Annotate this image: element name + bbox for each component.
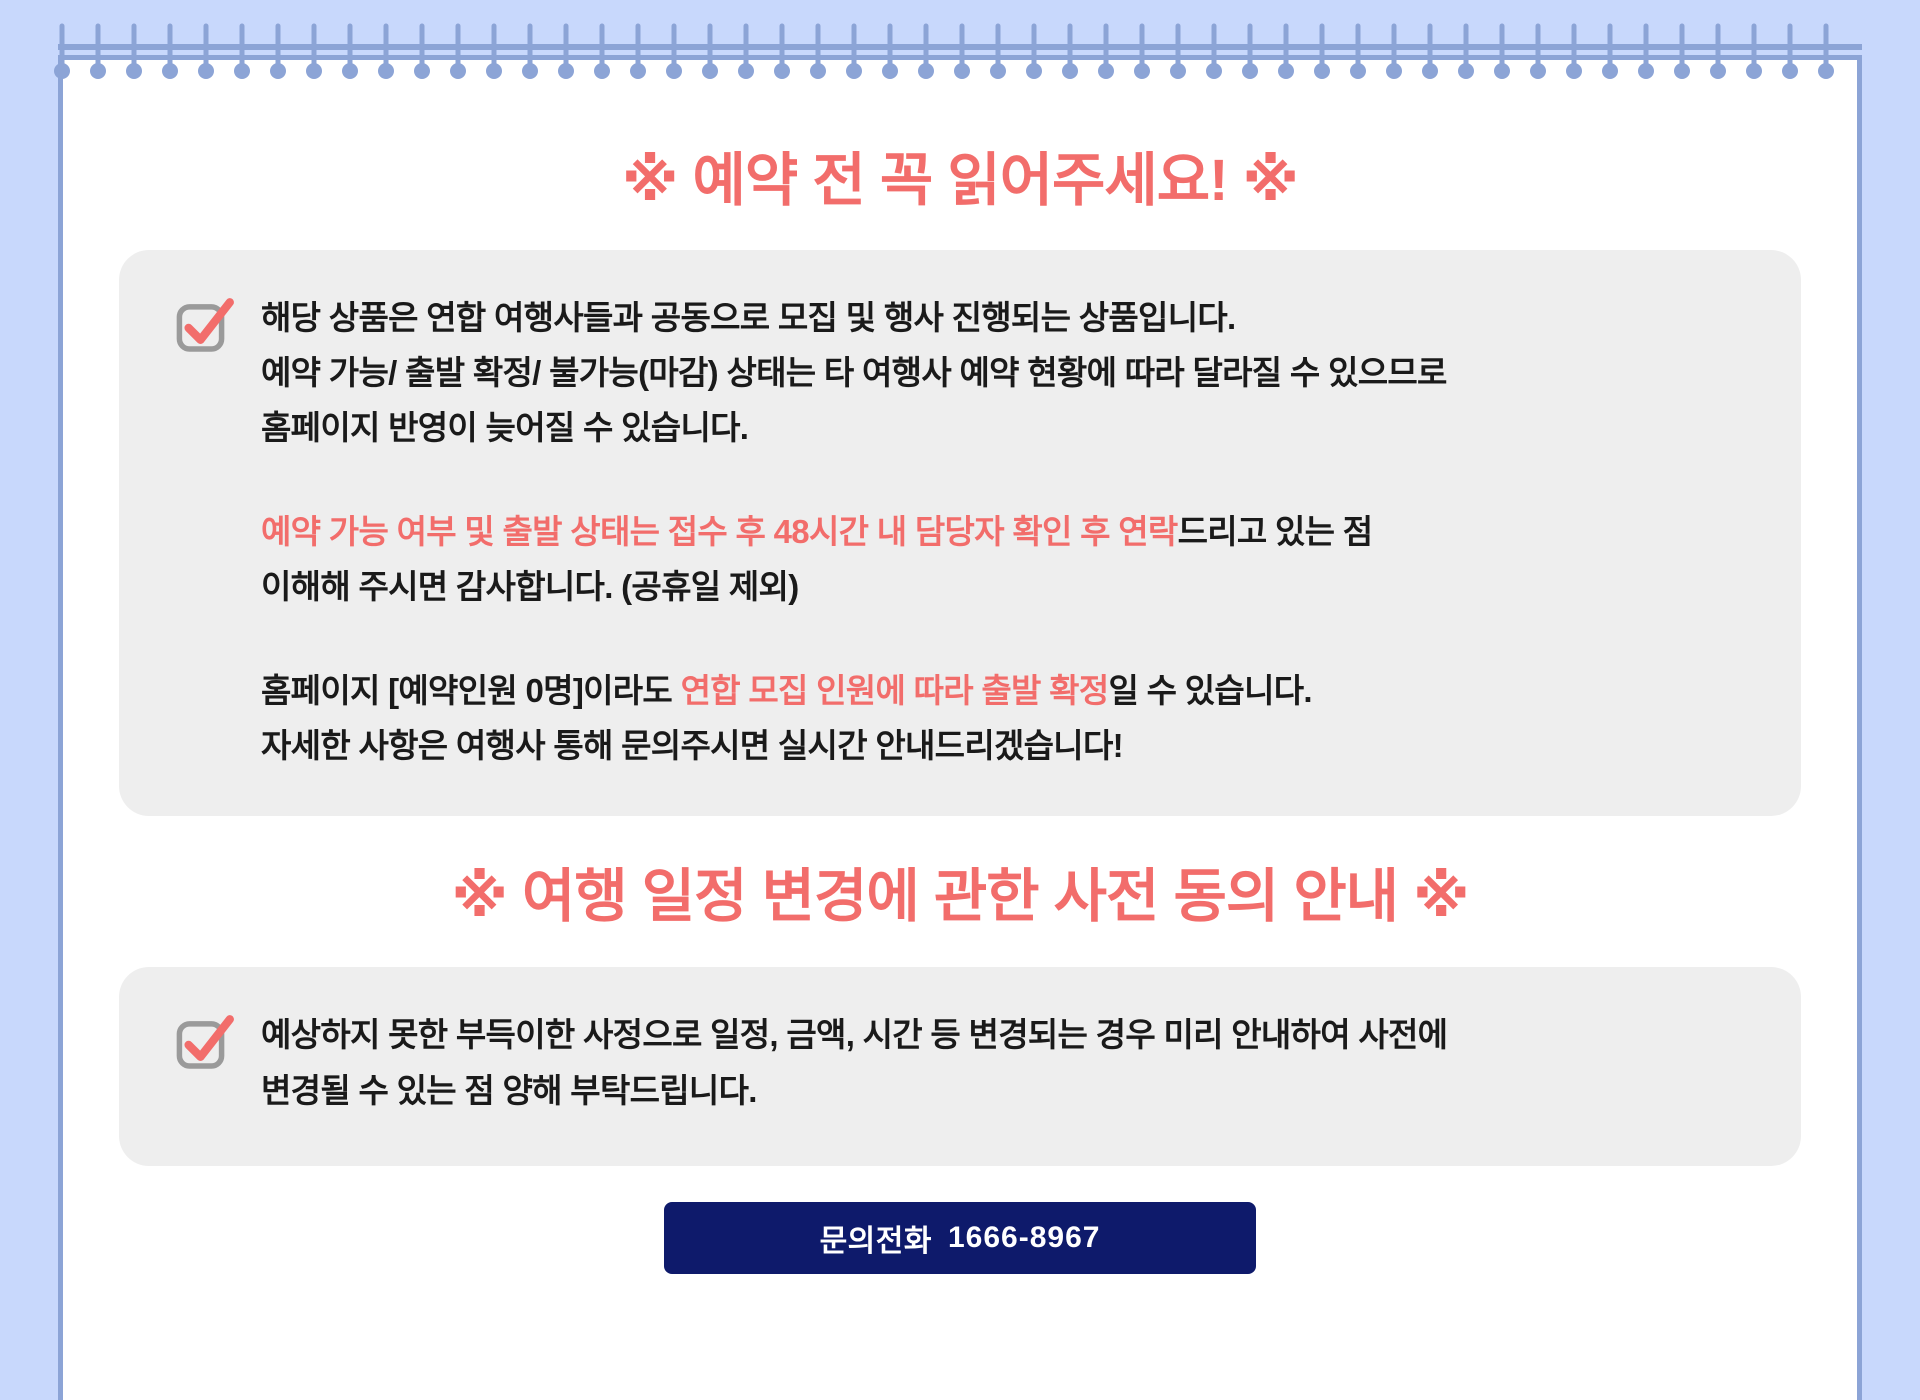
paragraph: 홈페이지 [예약인원 0명]이라도 연합 모집 인원에 따라 출발 확정일 수 … bbox=[261, 663, 1755, 774]
text-run: 예약 가능/ 출발 확정/ 불가능(마감) 상태는 타 여행사 예약 현황에 따… bbox=[261, 354, 1447, 391]
text-run: 이해해 주시면 감사합니다. (공휴일 제외) bbox=[261, 568, 798, 605]
notice-line: 예약 가능/ 출발 확정/ 불가능(마감) 상태는 타 여행사 예약 현황에 따… bbox=[261, 345, 1755, 400]
notice-card-itinerary: 예상하지 못한 부득이한 사정으로 일정, 금액, 시간 등 변경되는 경우 미… bbox=[119, 967, 1801, 1166]
notice-line: 홈페이지 반영이 늦어질 수 있습니다. bbox=[261, 400, 1755, 455]
notice-card-booking: 해당 상품은 연합 여행사들과 공동으로 모집 및 행사 진행되는 상품입니다.… bbox=[119, 250, 1801, 816]
checkbox-checked-icon bbox=[173, 1011, 239, 1077]
notice-line: 예약 가능 여부 및 출발 상태는 접수 후 48시간 내 담당자 확인 후 연… bbox=[261, 504, 1755, 559]
checkbox-icon-wrap bbox=[165, 1005, 261, 1077]
text-run: 해당 상품은 연합 여행사들과 공동으로 모집 및 행사 진행되는 상품입니다. bbox=[261, 299, 1236, 336]
notice-line: 해당 상품은 연합 여행사들과 공동으로 모집 및 행사 진행되는 상품입니다. bbox=[261, 290, 1755, 345]
text-run: 예상하지 못한 부득이한 사정으로 일정, 금액, 시간 등 변경되는 경우 미… bbox=[261, 1016, 1447, 1053]
text-run: 변경될 수 있는 점 양해 부탁드립니다. bbox=[261, 1072, 757, 1109]
notice-line: 이해해 주시면 감사합니다. (공휴일 제외) bbox=[261, 559, 1755, 614]
notice-body-itinerary: 예상하지 못한 부득이한 사정으로 일정, 금액, 시간 등 변경되는 경우 미… bbox=[261, 1005, 1755, 1118]
page-title: ※ 예약 전 꼭 읽어주세요! ※ bbox=[119, 146, 1801, 216]
paragraph: 예약 가능 여부 및 출발 상태는 접수 후 48시간 내 담당자 확인 후 연… bbox=[261, 504, 1755, 615]
notice-line: 자세한 사항은 여행사 통해 문의주시면 실시간 안내드리겠습니다! bbox=[261, 718, 1755, 773]
text-run: 홈페이지 반영이 늦어질 수 있습니다. bbox=[261, 409, 748, 446]
text-run: 드리고 있는 점 bbox=[1178, 513, 1373, 550]
paragraph: 예상하지 못한 부득이한 사정으로 일정, 금액, 시간 등 변경되는 경우 미… bbox=[261, 1007, 1755, 1118]
text-run: 일 수 있습니다. bbox=[1109, 672, 1312, 709]
notice-line: 예상하지 못한 부득이한 사정으로 일정, 금액, 시간 등 변경되는 경우 미… bbox=[261, 1007, 1755, 1062]
contact-phone-number: 1666-8967 bbox=[948, 1221, 1100, 1255]
contact-label: 문의전화 bbox=[820, 1216, 932, 1260]
paragraph: 해당 상품은 연합 여행사들과 공동으로 모집 및 행사 진행되는 상품입니다.… bbox=[261, 290, 1755, 456]
notice-body-booking: 해당 상품은 연합 여행사들과 공동으로 모집 및 행사 진행되는 상품입니다.… bbox=[261, 288, 1755, 774]
text-run-highlight: 연합 모집 인원에 따라 출발 확정 bbox=[681, 672, 1109, 709]
section-title-itinerary-change: ※ 여행 일정 변경에 관한 사전 동의 안내 ※ bbox=[119, 862, 1801, 932]
checkbox-icon-wrap bbox=[165, 288, 261, 360]
checkbox-checked-icon bbox=[173, 294, 239, 360]
notice-poster: ※ 예약 전 꼭 읽어주세요! ※ 해당 상품은 연합 여행사들과 공동으로 모… bbox=[0, 0, 1920, 1400]
contact-row: 문의전화 1666-8967 bbox=[119, 1202, 1801, 1274]
notice-sheet: ※ 예약 전 꼭 읽어주세요! ※ 해당 상품은 연합 여행사들과 공동으로 모… bbox=[58, 55, 1862, 1400]
notice-line: 홈페이지 [예약인원 0명]이라도 연합 모집 인원에 따라 출발 확정일 수 … bbox=[261, 663, 1755, 718]
contact-phone-button[interactable]: 문의전화 1666-8967 bbox=[664, 1202, 1256, 1274]
text-run: 자세한 사항은 여행사 통해 문의주시면 실시간 안내드리겠습니다! bbox=[261, 727, 1123, 764]
text-run-highlight: 예약 가능 여부 및 출발 상태는 접수 후 48시간 내 담당자 확인 후 연… bbox=[261, 513, 1178, 550]
text-run: 홈페이지 [예약인원 0명]이라도 bbox=[261, 672, 681, 709]
notice-line: 변경될 수 있는 점 양해 부탁드립니다. bbox=[261, 1063, 1755, 1118]
